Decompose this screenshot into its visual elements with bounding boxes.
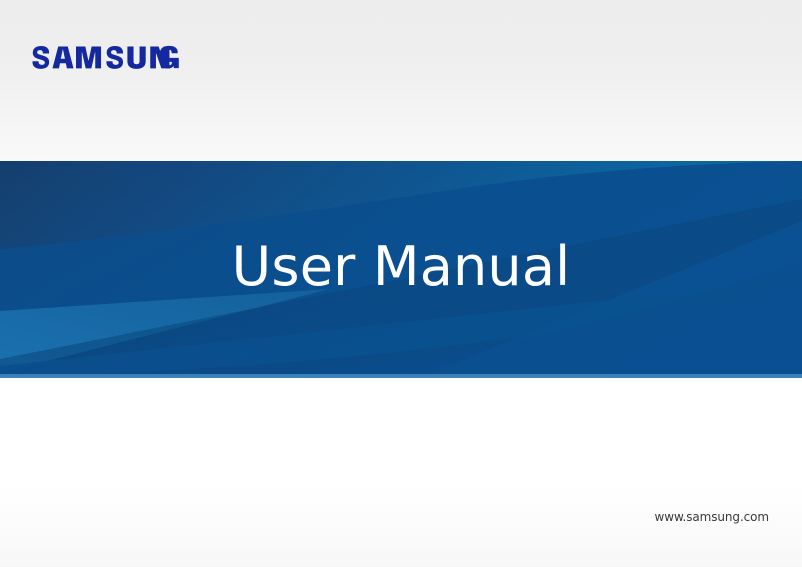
header-band: SAMSUNG	[0, 0, 802, 161]
page-title: User Manual	[0, 161, 802, 378]
samsung-logo: SAMSUNG	[30, 42, 180, 72]
user-manual-cover-page: SAMSUNG	[0, 0, 802, 567]
website-url: www.samsung.com	[655, 510, 769, 524]
hero-banner: User Manual	[0, 161, 802, 378]
footer-area	[0, 378, 802, 567]
